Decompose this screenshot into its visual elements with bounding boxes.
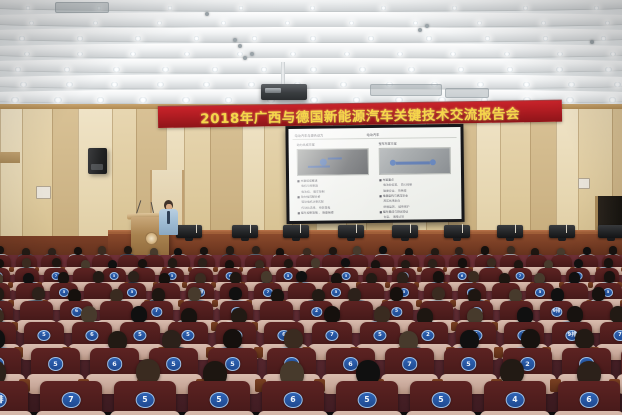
seat-number-badge: 7 [402,357,418,370]
audience-member-head [521,329,540,349]
ceiling-sprinkler [418,28,422,32]
ceiling-downlight [97,97,105,103]
ceiling-downlight [239,6,244,10]
audience-member-head [22,258,31,267]
ceiling-downlight [485,36,491,40]
wall-switch-plate [36,186,51,199]
dais-microphone [356,224,357,233]
seat-number-badge: 7 [516,272,525,280]
auditorium-seat: 5 [114,381,176,415]
seat-number-badge: 7 [151,307,162,317]
podium-emblem [145,232,158,245]
audience-member-head [390,287,403,301]
audience-member-head [604,271,615,283]
audience-member-head [311,258,320,267]
audience-member-head [609,246,617,254]
seat-number-badge: 9排 [0,392,6,408]
ceiling-downlight [194,36,200,40]
slide-header-right: 电动汽车 [366,132,379,137]
ceiling-downlight [135,36,141,40]
dais-microphone [515,224,516,233]
ceiling-sprinkler [243,56,247,60]
seat-number-badge: 5 [37,330,50,341]
ceiling-downlight [252,36,258,40]
ceiling-downlight [310,97,318,103]
ceiling-downlight [310,36,316,40]
ceiling-downlight [310,6,315,10]
audience-member-head [124,246,132,254]
audience-member-head [460,330,479,350]
dais-microphone [196,224,197,233]
audience-member-head [458,258,467,267]
ceiling-downlight [458,67,465,72]
auditorium-seat: 9排 [0,381,28,415]
wall-switch-plate [578,178,590,189]
audience-member-head [551,288,564,302]
ceiling-downlight [344,52,350,57]
ceiling-downlight [26,6,31,10]
audience-member-head [432,287,445,301]
audience-member-head [296,271,307,283]
seat-number-badge: 5 [373,330,386,341]
audience-member-head [353,246,361,254]
seat-number-badge: 5 [535,288,545,297]
ceiling-sprinkler [425,24,429,28]
ceiling-downlight [162,67,169,72]
ceiling-downlight [184,52,190,57]
projection-screen: 电动汽车与混合动力 电动汽车 动力总成方案 ■ 方案组成概述电机与控制器电池组、… [285,124,464,224]
ceiling-sprinkler [238,44,242,48]
seat-number-badge: 6 [85,330,98,341]
audience-member-head [98,246,106,254]
ceiling-downlight [452,6,457,10]
seat-number-badge: 6 [284,392,303,408]
powertrain-diagram [297,148,369,176]
ceiling-downlight [359,67,366,72]
audience-member-head [604,258,613,267]
audience-member-head [575,329,594,349]
auditorium-seat: 5 [410,381,472,415]
seat-number-badge: 5 [110,272,119,280]
seat-number-badge: 7 [325,330,338,341]
seat-armrest [213,267,218,272]
seat-number-badge: 5 [136,392,155,408]
audience-member-head [379,246,387,254]
seat-number-badge: 4 [506,392,525,408]
ceiling-downlight [381,6,386,10]
slide-column-left: 动力总成方案 ■ 方案组成概述电机与控制器电池组、 整车控制■ 动力性匹配分析驱… [297,142,372,216]
audience-member-head [93,271,104,283]
ceiling-downlight [168,6,173,10]
ceiling-sprinkler [590,40,594,44]
seat-armrest [9,267,14,272]
slide-header-left: 电动汽车与混合动力 [294,133,323,138]
dais-monitor [232,225,258,238]
auditorium-seat: 6 [262,381,324,415]
dais-monitor [392,225,418,238]
dais-microphone [566,224,567,233]
seat-number-badge: 5 [127,288,137,297]
ceiling-downlight [408,67,415,72]
ceiling-projector [261,84,307,100]
ceiling-downlight [605,67,612,72]
audience-member-head [131,306,147,323]
auditorium-seat: 7 [40,381,102,415]
ceiling-vent [55,2,109,13]
ceiling-sprinkler [233,38,237,42]
audience-member-head [152,288,165,302]
dais-microphone [462,224,463,233]
vehicle-layout-diagram [379,147,451,175]
auditorium-seat: 5 [336,381,398,415]
slide-bullets-right: ■ 布置要点电池包位置、 质心控制碰撞安全、 热管理■ 电器架构与高压安全高压线… [379,177,454,220]
seat-number-badge: 6 [458,272,467,280]
ceiling-downlight [368,36,374,40]
dais-microphone [250,224,251,233]
dais-monitor [497,225,523,238]
slide-bullets-left: ■ 方案组成概述电机与控制器电池组、 整车控制■ 动力性匹配分析驱动电机功率匹配… [297,178,371,216]
seat-number-badge: 5 [358,392,377,408]
ceiling-downlight [543,36,549,40]
ceiling-downlight [601,36,607,40]
seat-number-badge: 9排 [551,307,562,317]
audience-member-head [397,272,408,284]
audience-member-head [481,246,489,254]
audience-member-head [348,288,361,302]
audience-member-head [374,306,390,323]
ceiling-downlight [11,97,19,103]
ceiling-downlight [609,97,617,103]
dais-monitor [176,225,202,238]
slide-subtitle-right: 整车布置方案 [379,141,453,146]
ceiling-downlight [77,36,83,40]
ceiling-downlight [212,67,219,72]
ceiling-downlight [504,52,510,57]
audience-member-head [433,271,444,283]
audience-member-head [81,306,97,323]
dais-microphone [410,224,411,233]
auditorium-seat: 4 [484,381,546,415]
audience-member-head [198,258,207,267]
projector-mount-pole [281,62,285,86]
ceiling-downlight [556,67,563,72]
seat-number-badge: 5 [284,272,293,280]
audience-member-head [162,330,181,350]
audience-member-head [507,246,515,254]
ceiling-downlight [566,97,574,103]
audience-member-head [592,287,605,301]
ceiling-downlight [523,6,528,10]
dais-monitor [338,225,364,238]
audience-member-head [226,246,234,254]
presenter-tie [167,211,170,224]
seat-armrest [494,347,503,358]
ceiling-sprinkler [250,52,254,56]
seat-number-badge: 2 [421,330,434,341]
ceiling-downlight [19,36,25,40]
dais-monitor [598,225,622,238]
audience-member-head [324,306,340,323]
slide-column-right: 整车布置方案 ■ 布置要点电池包位置、 质心控制碰撞安全、 热管理■ 电器架构与… [379,141,454,220]
ceiling-vent [370,84,442,96]
seat-number-badge: 5 [432,392,451,408]
audience-member-head [468,271,479,283]
ceiling-vent [445,88,489,98]
audience-member-head [569,272,580,284]
dais-monitor [444,225,470,238]
audience-member-head [188,287,201,301]
audience-member-head [341,258,350,267]
auditorium-seat: 5 [188,381,250,415]
ceiling-downlight [594,6,599,10]
audience-member-head [261,271,272,283]
seat-number-badge: 5 [166,357,182,370]
seat-number-badge: 2 [311,307,322,317]
ceiling-downlight [113,67,120,72]
seat-number-badge: 5 [133,330,146,341]
ceiling-downlight [64,67,71,72]
ceiling-panel [0,43,622,59]
seat-number-badge: 5 [342,272,351,280]
dais-monitor [549,225,575,238]
wall-beam [0,152,20,163]
audience-member-head [567,306,583,323]
audience-member-head [284,329,303,349]
seat-number-badge: 7 [62,392,81,408]
ceiling-downlight [225,97,233,103]
seat-number-badge: 6 [580,392,599,408]
seat-number-badge: 5 [225,357,241,370]
ceiling-downlight [15,67,22,72]
ceiling-downlight [139,97,147,103]
seat-number-badge: 6 [107,357,123,370]
ceiling-downlight [24,52,30,57]
ceiling-downlight [310,67,317,72]
ceiling-panel [0,12,622,28]
audience-member-head [230,272,241,284]
conference-hall-photo: 2018年广西与德国新能源汽车关键技术交流报告会 电动汽车与混合动力 电动汽车 … [0,0,622,415]
ceiling-downlight [426,36,432,40]
audience-member-head [168,258,177,267]
audience-member-head [58,272,69,284]
audience-member-head [223,329,242,349]
seat-number-badge: 5 [48,357,64,370]
dais-monitor [283,225,309,238]
seat-number-badge: 5 [331,288,341,297]
slide-bullet: 台架、 道路试验 [380,214,454,220]
auditorium-seat: 6 [558,381,620,415]
ceiling [0,0,622,108]
dais-microphone [300,224,301,233]
audience-member-head [229,287,242,301]
audience-member-head [610,306,622,323]
slide-bullet: ■ 整车控制策略 、 能量管理 [297,210,371,216]
ceiling-sprinkler [205,12,209,16]
ceiling-downlight [261,67,268,72]
slide-subtitle-left: 动力总成方案 [297,142,371,147]
seat-number-badge: 5 [210,392,229,408]
wall-speaker [88,148,107,174]
seat-number-badge: 5 [461,357,477,370]
seat-number-badge: 5 [391,307,402,317]
audience-member-head [52,258,61,267]
seat-number-badge: 5 [181,330,194,341]
ceiling-downlight [54,97,62,103]
ceiling-downlight [182,97,190,103]
seat-number-badge: 7 [613,330,622,341]
